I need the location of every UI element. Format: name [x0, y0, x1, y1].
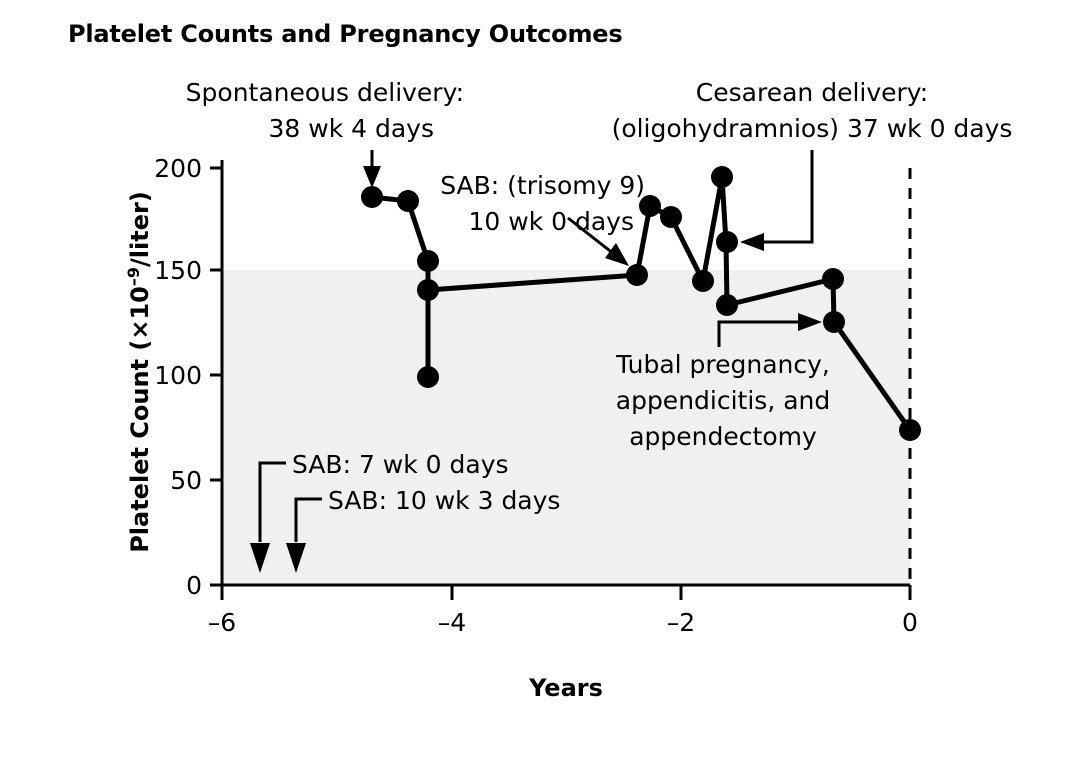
x-axis-title: Years	[528, 674, 603, 702]
annotation-tubal-pregnancy-line2: appendicitis, and	[616, 386, 831, 415]
data-point	[823, 311, 845, 333]
data-point	[822, 268, 844, 290]
annotation-spontaneous-delivery-line2: 38 wk 4 days	[269, 114, 435, 143]
annotation-spontaneous-delivery-arrowhead	[363, 166, 381, 188]
annotation-spontaneous-delivery: Spontaneous delivery: 38 wk 4 days	[186, 78, 464, 188]
annotation-sab-10wk-label: SAB: 10 wk 3 days	[328, 486, 560, 515]
x-tick-label-minus6: –6	[208, 608, 236, 637]
y-tick-label-200: 200	[154, 154, 202, 183]
y-axis-title: Platelet Count (×10–9/liter)	[124, 191, 154, 553]
y-axis-title-suffix: /liter)	[126, 191, 154, 267]
x-tick-label-0: 0	[902, 608, 918, 637]
annotation-sab-7wk-label: SAB: 7 wk 0 days	[292, 450, 509, 479]
data-point	[660, 206, 682, 228]
annotation-sab-trisomy-9-line1: SAB: (trisomy 9)	[440, 171, 645, 200]
svg-text:Platelet Count (×10–9/liter): Platelet Count (×10–9/liter)	[124, 191, 154, 553]
data-point	[716, 294, 738, 316]
annotation-sab-trisomy-9-line2: 10 wk 0 days	[469, 207, 635, 236]
annotation-spontaneous-delivery-line1: Spontaneous delivery:	[186, 78, 464, 107]
data-point	[692, 270, 714, 292]
annotation-cesarean-delivery-line1: Cesarean delivery:	[696, 78, 928, 107]
annotation-cesarean-delivery-leader	[758, 150, 812, 242]
y-axis-title-prefix: Platelet Count (×10	[126, 286, 154, 553]
y-tick-label-150: 150	[154, 256, 202, 285]
annotation-sab-trisomy-9: SAB: (trisomy 9) 10 wk 0 days	[440, 171, 645, 266]
data-point	[716, 231, 738, 253]
data-point	[417, 250, 439, 272]
y-tick-label-100: 100	[154, 361, 202, 390]
annotation-cesarean-delivery-arrowhead	[740, 233, 764, 251]
data-point	[899, 419, 921, 441]
y-axis-tick-labels: 200 150 100 50 0	[154, 154, 202, 600]
y-tick-label-0: 0	[186, 571, 202, 600]
x-axis-tick-labels: –6 –4 –2 0	[208, 608, 918, 637]
x-tick-label-minus2: –2	[667, 608, 695, 637]
y-tick-label-50: 50	[170, 466, 202, 495]
y-axis-title-exponent: –9	[124, 267, 143, 286]
y-axis-ticks	[210, 168, 222, 585]
platelet-count-chart: 200 150 100 50 0 –6 –4 –2 0 Years Platel…	[0, 0, 1080, 762]
data-point	[397, 190, 419, 212]
annotation-tubal-pregnancy-line3: appendectomy	[629, 422, 817, 451]
x-tick-label-minus4: –4	[438, 608, 466, 637]
data-point	[626, 264, 648, 286]
x-axis-ticks	[222, 585, 910, 600]
data-point	[417, 366, 439, 388]
figure-title: Platelet Counts and Pregnancy Outcomes	[68, 20, 622, 48]
data-point	[711, 166, 733, 188]
data-point	[361, 186, 383, 208]
figure-container: Platelet Counts and Pregnancy Outcomes 2…	[0, 0, 1080, 762]
data-point	[417, 279, 439, 301]
annotation-tubal-pregnancy-line1: Tubal pregnancy,	[615, 350, 830, 379]
annotation-cesarean-delivery-line2: (oligohydramnios) 37 wk 0 days	[612, 114, 1013, 143]
annotation-sab-trisomy-9-arrowhead	[605, 243, 629, 266]
